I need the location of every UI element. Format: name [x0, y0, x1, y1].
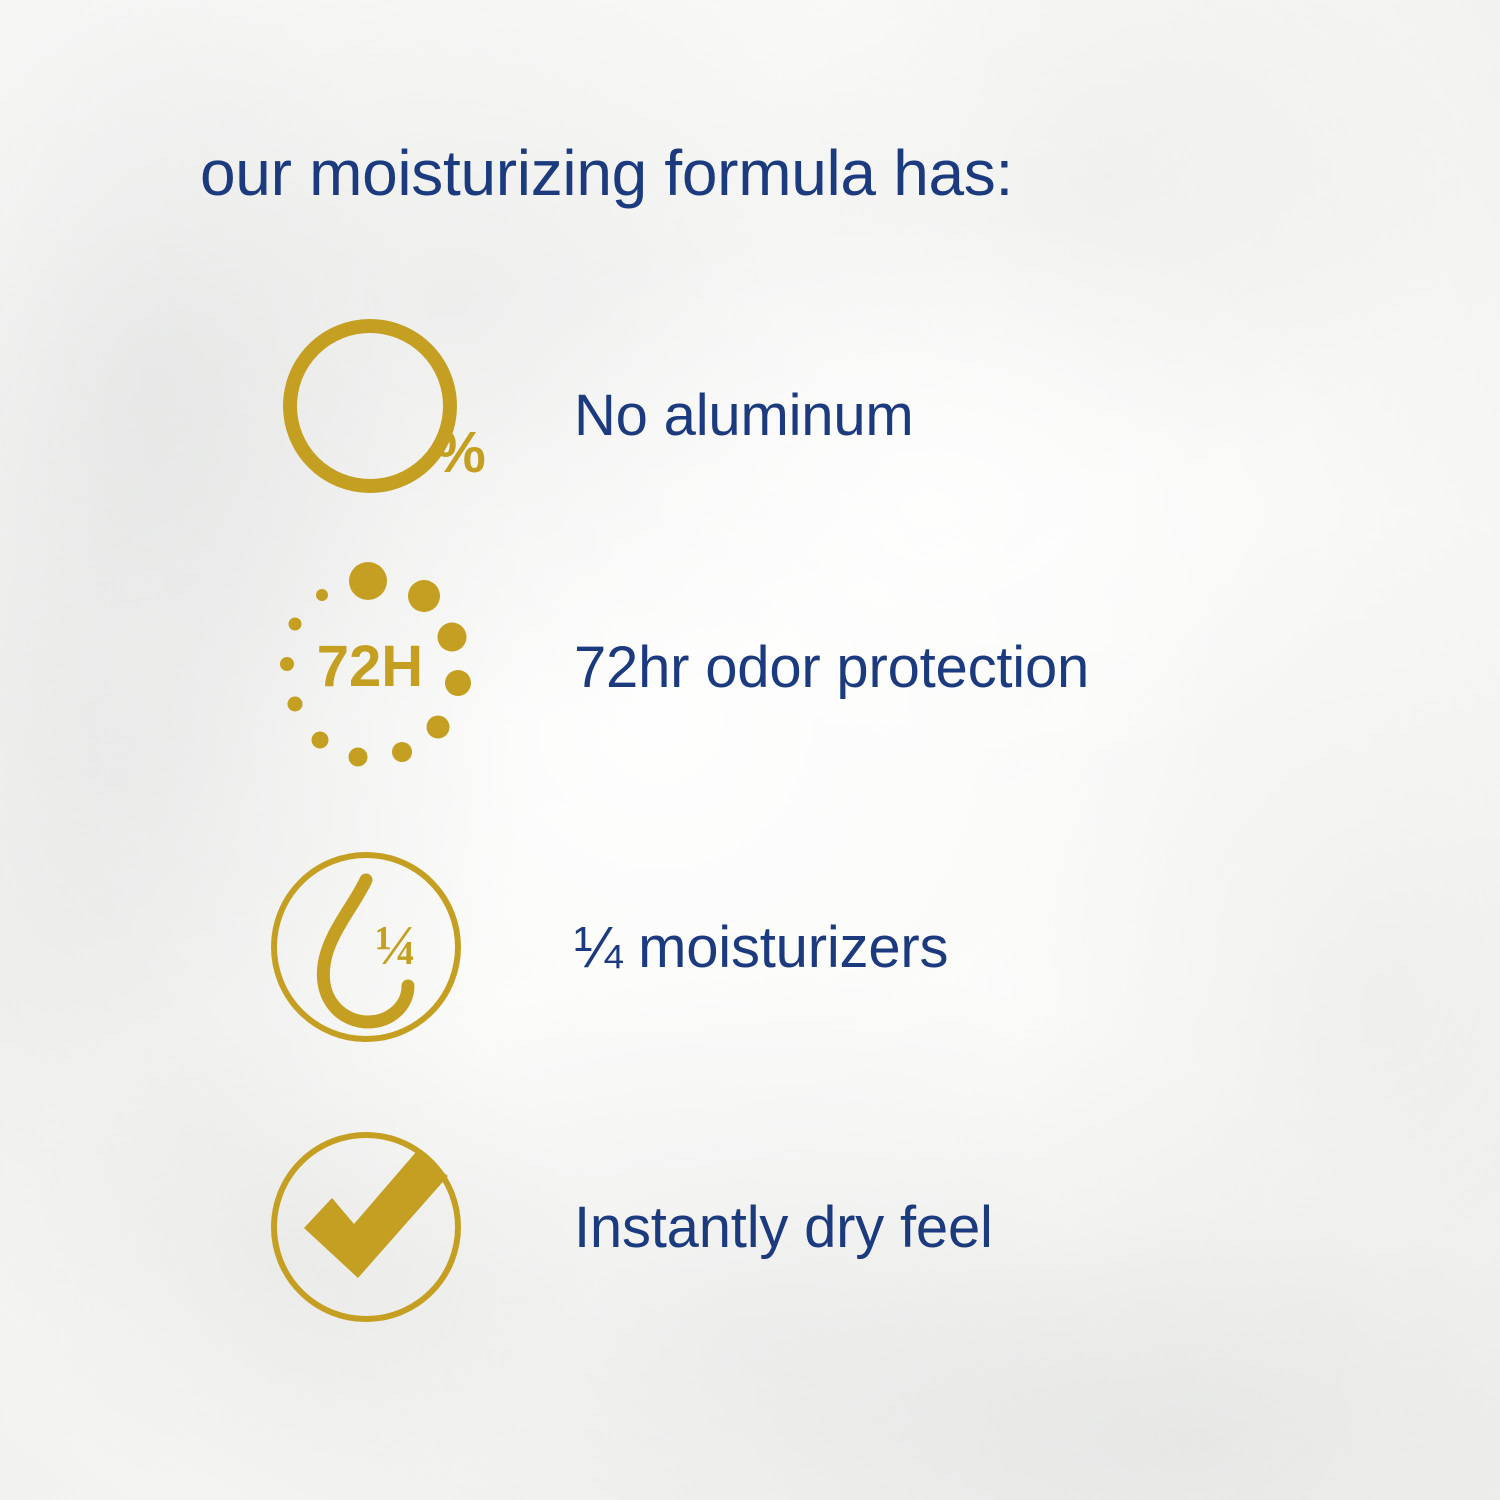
fraction-glyph: ¼	[375, 915, 417, 977]
benefit-label: ¼ moisturizers	[574, 914, 948, 981]
72h-dot-ring-icon: 72H	[262, 552, 518, 782]
benefit-label: Instantly dry feel	[574, 1194, 993, 1261]
benefit-item-dry-feel: Instantly dry feel	[262, 1112, 1382, 1342]
percent-glyph: %	[434, 420, 486, 485]
content-layer: our moisturizing formula has: % No alumi…	[0, 0, 1500, 1500]
check-circle-icon	[262, 1112, 518, 1342]
benefit-item-no-aluminum: % No aluminum	[262, 300, 1382, 530]
benefit-item-odor-protection: 72H 72hr odor protection	[262, 552, 1382, 782]
product-benefits-graphic: our moisturizing formula has: % No alumi…	[0, 0, 1500, 1500]
page-title: our moisturizing formula has:	[200, 139, 1380, 208]
duration-text: 72H	[317, 634, 423, 699]
benefit-item-moisturizers: ¼ ¼ moisturizers	[262, 832, 1382, 1062]
droplet-quarter-icon: ¼	[262, 832, 518, 1062]
zero-percent-icon: %	[262, 300, 518, 530]
benefit-label: No aluminum	[574, 382, 914, 449]
benefit-label: 72hr odor protection	[574, 634, 1089, 701]
checkmark-shape	[304, 1152, 448, 1278]
